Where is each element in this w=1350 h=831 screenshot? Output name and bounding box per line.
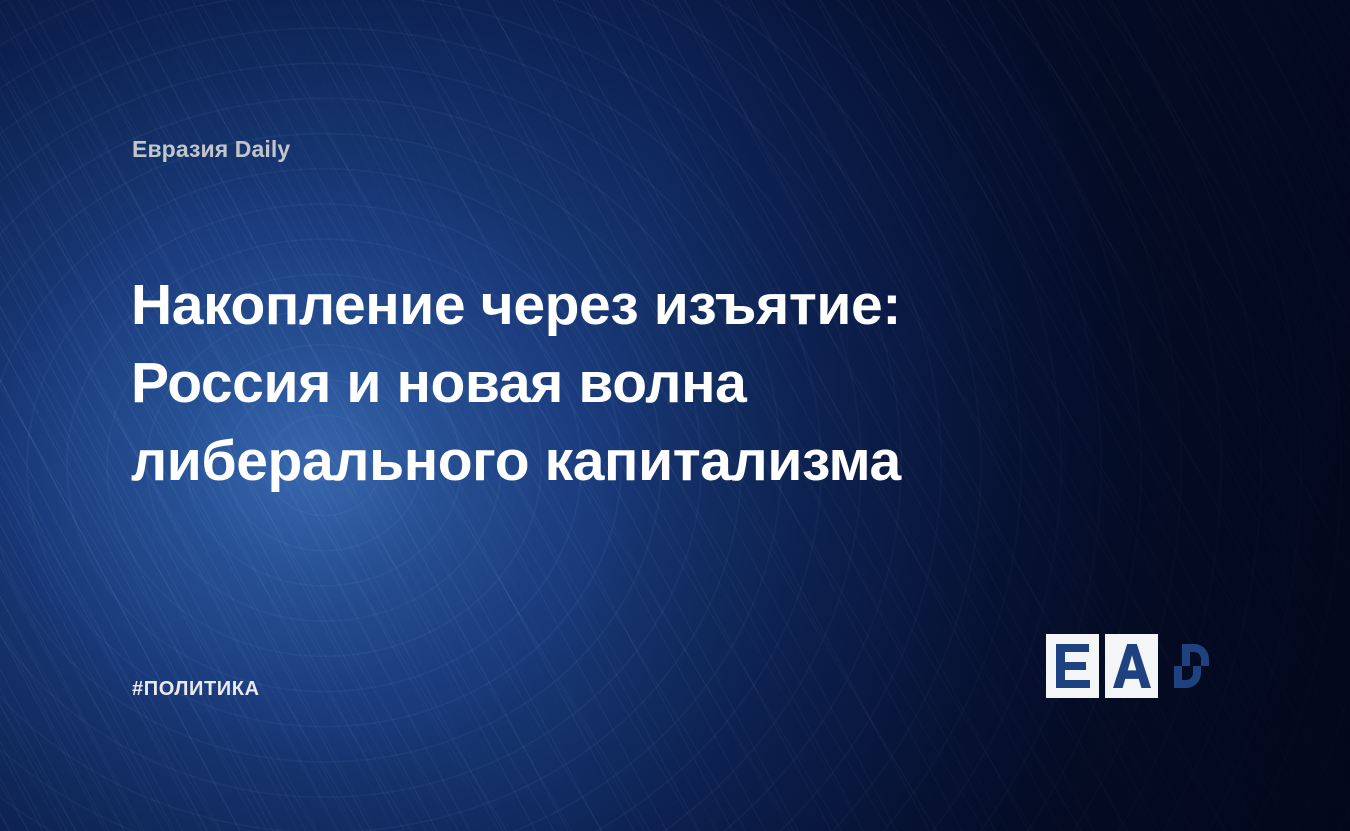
logo-tile-d xyxy=(1164,634,1217,698)
letter-d-icon xyxy=(1164,634,1217,698)
letter-e-icon xyxy=(1056,644,1090,688)
eadaily-logo[interactable] xyxy=(1046,634,1217,698)
article-share-card: Евразия Daily Накопление через изъятие: … xyxy=(0,0,1350,831)
logo-tile-a xyxy=(1105,634,1158,698)
article-category-tag[interactable]: #ПОЛИТИКА xyxy=(132,678,260,701)
logo-tile-e xyxy=(1046,634,1099,698)
article-headline: Накопление через изъятие: Россия и новая… xyxy=(131,266,1116,500)
card-content: Евразия Daily Накопление через изъятие: … xyxy=(0,0,1350,831)
site-name: Евразия Daily xyxy=(132,136,290,163)
letter-a-icon xyxy=(1113,644,1151,688)
